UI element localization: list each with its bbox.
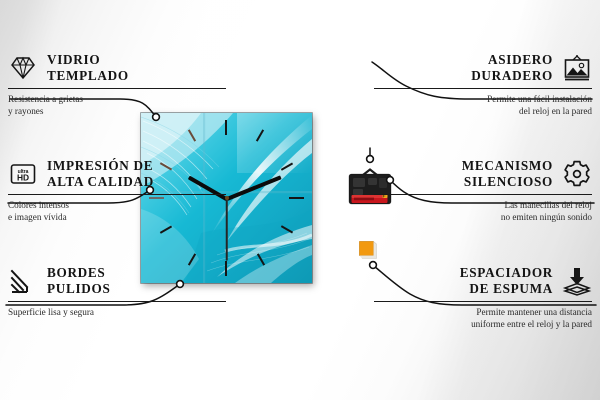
feature-description: Colores intensos e imagen vívida	[8, 200, 226, 223]
feature-divider	[374, 88, 592, 89]
feature-divider	[374, 301, 592, 302]
foam-spacer-icon	[562, 266, 592, 296]
feature-description: Superficie lisa y segura	[8, 307, 226, 318]
ultra-hd-icon: ultra HD	[8, 159, 38, 189]
feature-divider	[8, 88, 226, 89]
feature-description: Resistencia a grietas y rayones	[8, 94, 226, 117]
feature-description: Las manecillas del reloj no emiten ningú…	[374, 200, 592, 223]
feature-divider	[8, 194, 226, 195]
feature-divider	[8, 301, 226, 302]
feature-description: Permite mantener una distancia uniforme …	[374, 307, 592, 330]
foam-spacer	[359, 241, 377, 259]
gear-icon	[562, 159, 592, 189]
feature-title: ASIDERO DURADERO	[471, 52, 553, 83]
diamond-icon	[8, 53, 38, 83]
feature-asidero-duradero: ASIDERO DURADERO Permite una fácil insta…	[374, 52, 592, 117]
svg-text:HD: HD	[17, 172, 29, 182]
feature-espaciador-de-espuma: ESPACIADOR DE ESPUMA Permite mantener un…	[374, 265, 592, 330]
feature-description: Permite una fácil instalación del reloj …	[374, 94, 592, 117]
feature-bordes-pulidos: BORDES PULIDOS Superficie lisa y segura	[8, 265, 226, 319]
feature-divider	[374, 194, 592, 195]
wire-dot-asidero	[367, 156, 374, 163]
feature-title: BORDES PULIDOS	[47, 265, 111, 296]
feature-title: IMPRESIÓN DE ALTA CALIDAD	[47, 158, 154, 189]
feature-impresion-alta-calidad: ultra HD IMPRESIÓN DE ALTA CALIDAD Color…	[8, 158, 226, 223]
feature-title: ESPACIADOR DE ESPUMA	[460, 265, 553, 296]
infographic-canvas: VIDRIO TEMPLADO Resistencia a grietas y …	[0, 0, 600, 400]
clock-center-pivot	[225, 196, 229, 200]
feature-mecanismo-silencioso: MECANISMO SILENCIOSO Las manecillas del …	[374, 158, 592, 223]
polished-edges-icon	[8, 266, 38, 296]
feature-title: MECANISMO SILENCIOSO	[462, 158, 553, 189]
feature-title: VIDRIO TEMPLADO	[47, 52, 129, 83]
feature-vidrio-templado: VIDRIO TEMPLADO Resistencia a grietas y …	[8, 52, 226, 117]
picture-hanger-icon	[562, 53, 592, 83]
